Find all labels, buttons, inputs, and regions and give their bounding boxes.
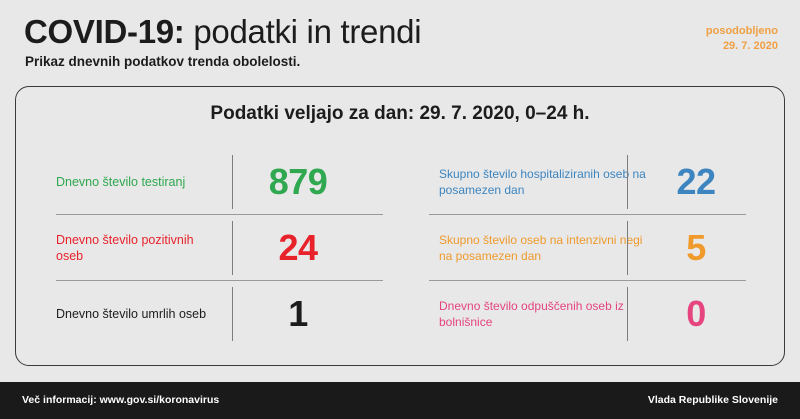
stat-cell-daily-tests: Dnevno število testiranj 879: [56, 149, 401, 215]
stat-label: Dnevno število odpuščenih oseb iz bolniš…: [439, 298, 646, 330]
updated-date: 29. 7. 2020: [706, 39, 778, 54]
data-card: Podatki veljajo za dan: 29. 7. 2020, 0–2…: [15, 86, 785, 366]
stat-value: 22: [646, 163, 746, 201]
page-title-light: podatki in trendi: [185, 13, 422, 50]
page-title: COVID-19: podatki in trendi: [24, 12, 421, 52]
footer-publisher: Vlada Republike Slovenije: [648, 394, 778, 406]
card-title: Podatki veljajo za dan: 29. 7. 2020, 0–2…: [16, 103, 784, 125]
page-title-strong: COVID-19:: [24, 13, 185, 50]
stat-value: 879: [223, 163, 373, 201]
stats-grid: Dnevno število testiranj 879 Skupno štev…: [56, 149, 746, 347]
stat-value: 5: [646, 229, 746, 267]
footer-more-info[interactable]: Več informacij: www.gov.si/koronavirus: [22, 394, 219, 406]
stat-cell-discharged: Dnevno število odpuščenih oseb iz bolniš…: [401, 281, 746, 347]
cell-divider: [232, 221, 233, 275]
stat-label: Skupno število hospitaliziranih oseb na …: [439, 166, 646, 198]
stat-value: 0: [646, 295, 746, 333]
cell-divider: [232, 287, 233, 341]
footer-bar: Več informacij: www.gov.si/koronavirus V…: [0, 382, 800, 419]
stat-label: Dnevno število pozitivnih oseb: [56, 232, 223, 264]
header: COVID-19: podatki in trendi Prikaz dnevn…: [0, 0, 800, 86]
page-subtitle: Prikaz dnevnih podatkov trenda obolelost…: [25, 54, 300, 69]
cell-divider: [232, 155, 233, 209]
stat-value: 24: [223, 229, 373, 267]
cell-divider: [627, 287, 628, 341]
cell-divider: [627, 221, 628, 275]
cell-divider: [627, 155, 628, 209]
stat-label: Skupno število oseb na intenzivni negi n…: [439, 232, 646, 264]
stat-label: Dnevno število testiranj: [56, 174, 223, 190]
stat-cell-daily-deaths: Dnevno število umrlih oseb 1: [56, 281, 401, 347]
stat-label: Dnevno število umrlih oseb: [56, 306, 223, 322]
stat-cell-intensive-care: Skupno število oseb na intenzivni negi n…: [401, 215, 746, 281]
updated-badge: posodobljeno 29. 7. 2020: [706, 24, 778, 54]
stat-value: 1: [223, 295, 373, 333]
stat-cell-hospitalized: Skupno število hospitaliziranih oseb na …: [401, 149, 746, 215]
stat-cell-daily-positive: Dnevno število pozitivnih oseb 24: [56, 215, 401, 281]
updated-label: posodobljeno: [706, 24, 778, 39]
